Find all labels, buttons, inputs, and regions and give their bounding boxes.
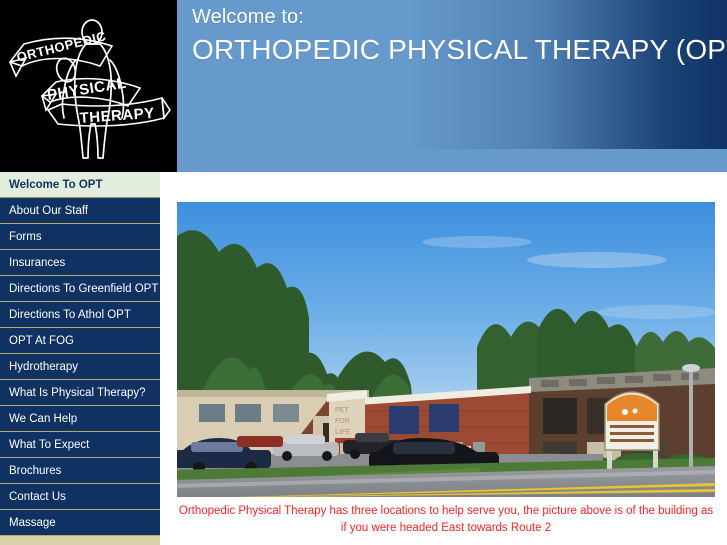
- welcome-label: Welcome to:: [192, 4, 727, 30]
- sidebar-item-directions-to-athol-opt[interactable]: Directions To Athol OPT: [0, 302, 160, 328]
- svg-text:LIFE: LIFE: [335, 429, 350, 436]
- sidebar-item-what-is-physical-therapy[interactable]: What Is Physical Therapy?: [0, 380, 160, 406]
- sidebar-item-forms[interactable]: Forms: [0, 224, 160, 250]
- sidebar-item-contact-us[interactable]: Contact Us: [0, 484, 160, 510]
- header-bottom-band: [177, 149, 727, 172]
- main-content: PET FOR LIFE: [160, 172, 727, 545]
- sidebar-footer-band: [0, 536, 160, 545]
- building-photo[interactable]: PET FOR LIFE: [177, 202, 715, 497]
- sidebar-item-insurances[interactable]: Insurances: [0, 250, 160, 276]
- sidebar-nav[interactable]: Welcome To OPTAbout Our StaffFormsInsura…: [0, 172, 160, 545]
- sidebar-item-what-to-expect[interactable]: What To Expect: [0, 432, 160, 458]
- header-text-block: Welcome to: ORTHOPEDIC PHYSICAL THERAPY …: [192, 4, 727, 69]
- sidebar-item-hydrotherapy[interactable]: Hydrotherapy: [0, 354, 160, 380]
- page-root: ORTHOPEDIC PHYSICAL THERAPY Welcome to: …: [0, 0, 727, 545]
- sidebar-item-opt-at-fog[interactable]: OPT At FOG: [0, 328, 160, 354]
- photo-caption: Orthopedic Physical Therapy has three lo…: [175, 503, 717, 537]
- logo-artwork: ORTHOPEDIC PHYSICAL THERAPY: [0, 0, 177, 172]
- sidebar-item-we-can-help[interactable]: We Can Help: [0, 406, 160, 432]
- sidebar-item-list: Welcome To OPTAbout Our StaffFormsInsura…: [0, 172, 160, 536]
- sidebar-item-about-our-staff[interactable]: About Our Staff: [0, 198, 160, 224]
- building-photo-artwork: PET FOR LIFE: [177, 202, 715, 497]
- svg-text:FOR: FOR: [335, 418, 350, 425]
- page-title: ORTHOPEDIC PHYSICAL THERAPY (OPT) 773-33…: [192, 30, 727, 69]
- svg-text:PET: PET: [335, 407, 349, 414]
- sidebar-item-welcome-to-opt[interactable]: Welcome To OPT: [0, 172, 160, 198]
- site-logo[interactable]: ORTHOPEDIC PHYSICAL THERAPY: [0, 0, 177, 172]
- sidebar-item-directions-to-greenfield-opt[interactable]: Directions To Greenfield OPT: [0, 276, 160, 302]
- sidebar-item-massage[interactable]: Massage: [0, 510, 160, 536]
- site-header: Welcome to: ORTHOPEDIC PHYSICAL THERAPY …: [177, 0, 727, 172]
- sidebar-item-brochures[interactable]: Brochures: [0, 458, 160, 484]
